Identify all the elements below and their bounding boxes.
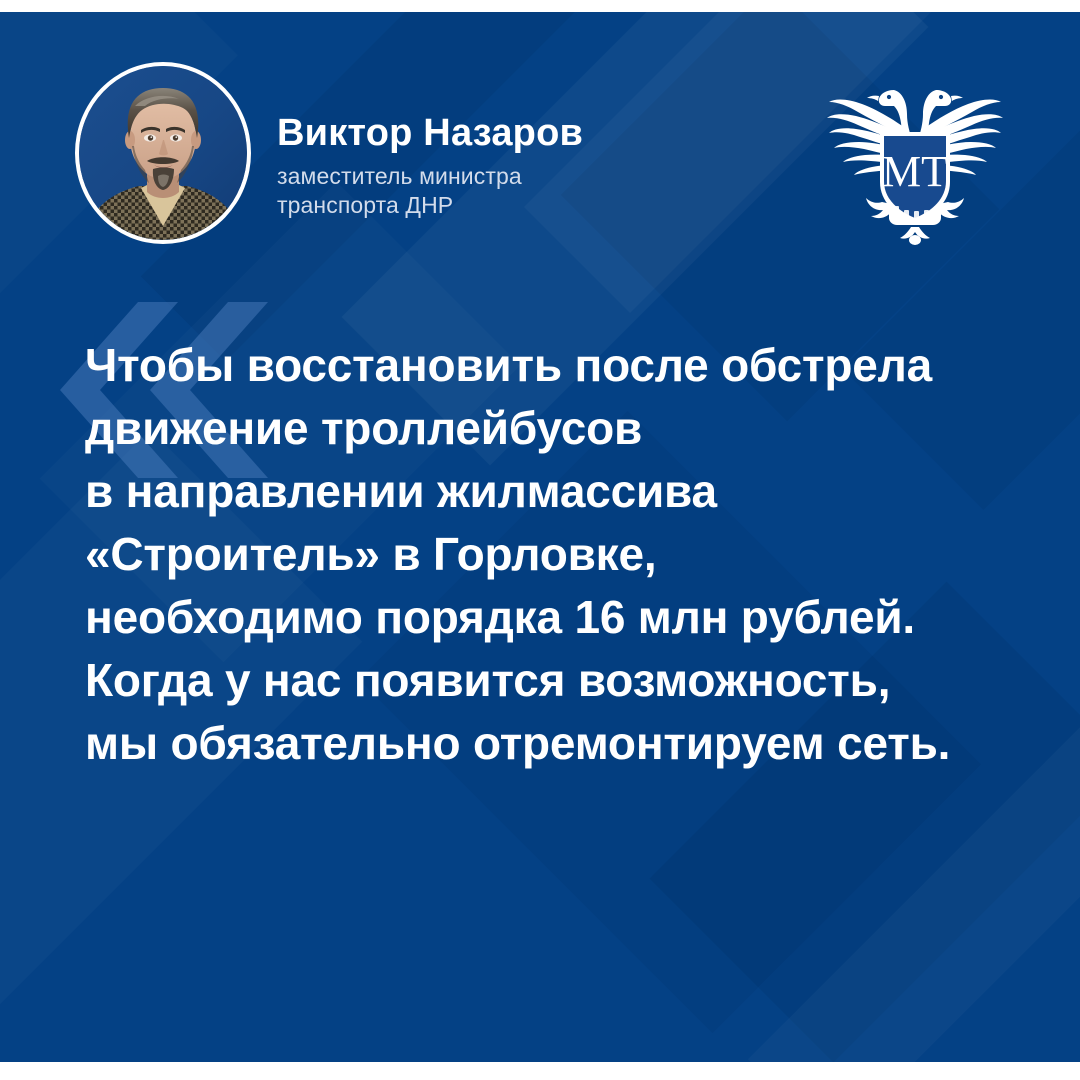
- quote-line: мы обязательно отремонтируем сеть.: [85, 712, 1035, 775]
- quote-line: движение троллейбусов: [85, 397, 1035, 460]
- double-headed-eagle-emblem: МТ: [820, 70, 1010, 255]
- quote-line: «Строитель» в Горловке,: [85, 523, 1035, 586]
- quote-card: Виктор Назаров заместитель министра тран…: [0, 12, 1080, 1062]
- header: Виктор Назаров заместитель министра тран…: [0, 12, 1080, 312]
- quote-line: необходимо порядка 16 млн рублей.: [85, 586, 1035, 649]
- quote-text: Чтобы восстановить после обстрела движен…: [85, 334, 1035, 775]
- quote-line: Чтобы восстановить после обстрела: [85, 334, 1035, 397]
- speaker-role-line-1: заместитель министра: [277, 162, 757, 191]
- speaker-info: Виктор Назаров заместитель министра тран…: [277, 112, 757, 220]
- avatar: [75, 62, 251, 244]
- quote-line: в направлении жилмассива: [85, 460, 1035, 523]
- quote-line: Когда у нас появится возможность,: [85, 649, 1035, 712]
- emblem-shield-text: МТ: [882, 147, 948, 196]
- speaker-name: Виктор Назаров: [277, 112, 757, 155]
- portrait-photo: [79, 66, 247, 240]
- speaker-role-line-2: транспорта ДНР: [277, 191, 757, 220]
